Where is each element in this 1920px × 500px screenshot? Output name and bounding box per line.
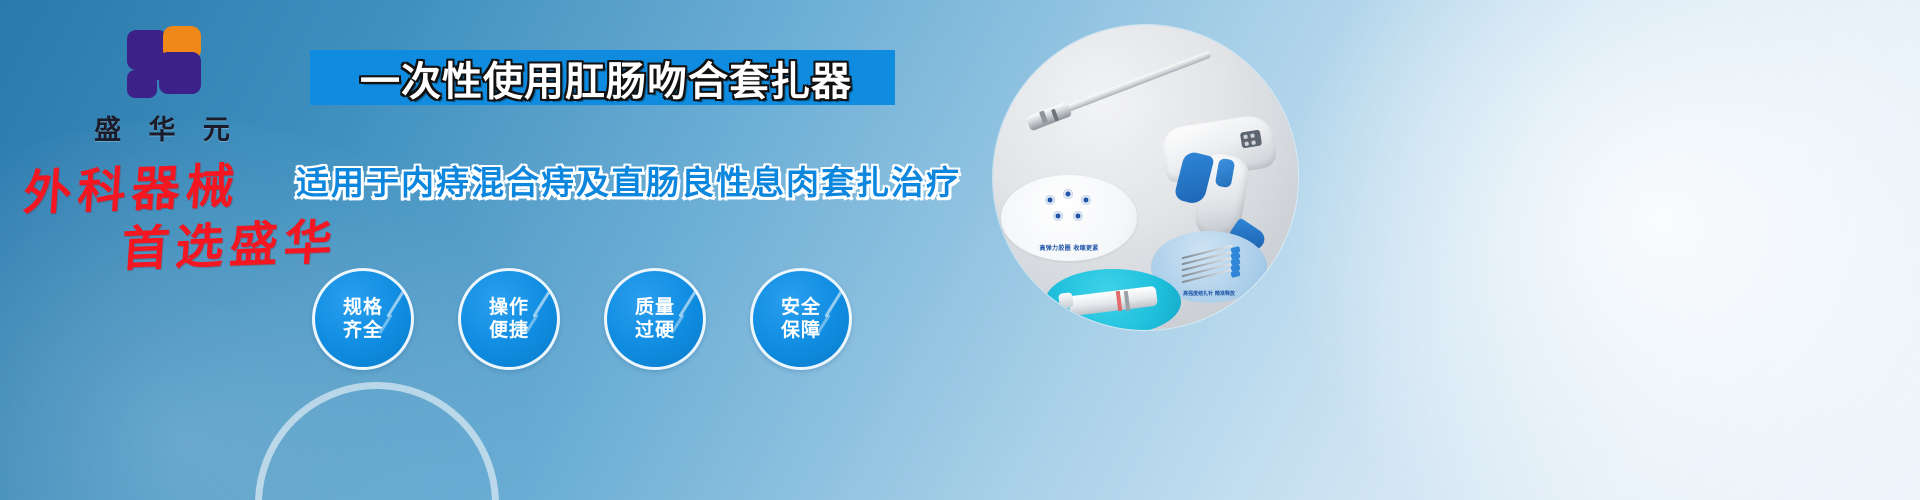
logo-shape-5 <box>149 62 171 80</box>
feature-badge-safety[interactable]: 安全 保障 <box>750 268 852 370</box>
feature-badge-list: 规格 齐全 操作 便捷 质量 过硬 安全 保障 <box>312 268 872 368</box>
rubber-band-icon <box>1073 211 1083 221</box>
background-glow-right <box>1280 0 1920 500</box>
feature-badge-specifications[interactable]: 规格 齐全 <box>312 268 414 370</box>
feature-label-line1: 操作 <box>489 296 529 319</box>
feature-label-line2: 齐全 <box>343 319 383 342</box>
feature-label-line1: 质量 <box>635 296 675 319</box>
product-photo: 高弹力胶圈 收缩更紧 高强度结扎针 精准释放 <box>993 25 1298 330</box>
product-button-panel <box>1240 130 1262 149</box>
page-title: 一次性使用肛肠吻合套扎器 <box>336 52 876 104</box>
rubber-band-icon <box>1081 195 1091 205</box>
inset-bands-caption: 高弹力胶圈 收缩更紧 <box>1001 243 1137 252</box>
feature-label-line2: 保障 <box>781 319 821 342</box>
device-head-tip <box>1058 292 1074 309</box>
feature-label-line2: 便捷 <box>489 319 529 342</box>
needle-cap-icon <box>1230 270 1240 278</box>
brand-name: 盛 华 元 <box>62 108 262 147</box>
rubber-band-icon <box>1045 195 1055 205</box>
rubber-band-icon <box>1053 211 1063 221</box>
feature-label-line2: 过硬 <box>635 319 675 342</box>
brand-logo[interactable]: 盛 华 元 <box>62 26 262 147</box>
feature-label-line1: 安全 <box>781 296 821 319</box>
inset-device-head <box>1045 269 1181 330</box>
feature-label-line1: 规格 <box>343 296 383 319</box>
product-shaft-tip <box>1026 102 1072 132</box>
device-head-tube <box>1068 286 1158 317</box>
feature-badge-operation[interactable]: 操作 便捷 <box>458 268 560 370</box>
decorative-circle-arc <box>255 382 499 500</box>
logo-mark-icon <box>119 26 205 104</box>
inset-rubber-bands: 高弹力胶圈 收缩更紧 <box>1001 175 1137 261</box>
promo-banner: 盛 华 元 外科器械 首选盛华 一次性使用肛肠吻合套扎器 适用于内痔混合痔及直肠… <box>0 0 1920 500</box>
page-subtitle: 适用于内痔混合痔及直肠良性息肉套扎治疗 <box>296 156 896 204</box>
feature-badge-quality[interactable]: 质量 过硬 <box>604 268 706 370</box>
rubber-band-icon <box>1063 189 1073 199</box>
slogan-line-2: 首选盛华 <box>119 202 341 279</box>
